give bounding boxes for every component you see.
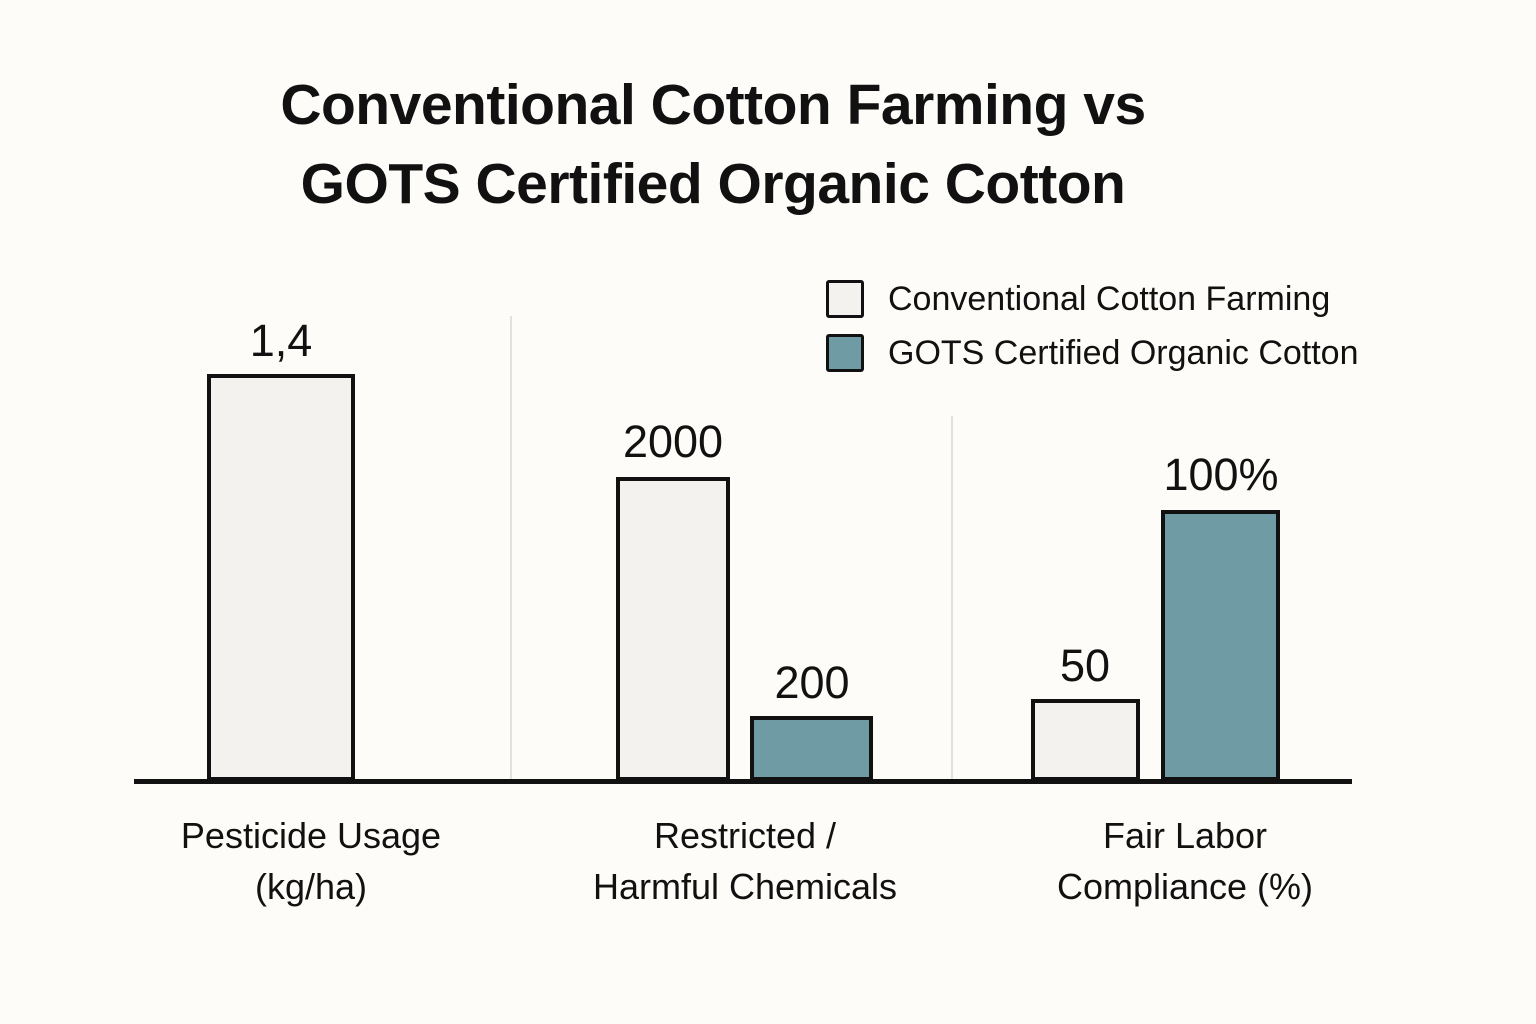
x-axis-baseline bbox=[134, 779, 1352, 784]
chart-container: Conventional Cotton Farming vs GOTS Cert… bbox=[0, 0, 1536, 1024]
bar-pesticide-conventional[interactable] bbox=[207, 374, 355, 781]
bar-value-labor-conventional: 50 bbox=[985, 643, 1185, 688]
category-label-labor: Fair Labor Compliance (%) bbox=[1015, 810, 1355, 912]
group-separator-1 bbox=[510, 316, 512, 780]
bar-labor-conventional[interactable] bbox=[1031, 699, 1140, 781]
group-separator-2 bbox=[951, 416, 953, 780]
category-label-chemicals: Restricted / Harmful Chemicals bbox=[575, 810, 915, 912]
category-label-pesticide: Pesticide Usage (kg/ha) bbox=[141, 810, 481, 912]
bar-labor-organic[interactable] bbox=[1161, 510, 1280, 781]
bar-chemicals-conventional[interactable] bbox=[616, 477, 730, 781]
bar-value-pesticide-conventional: 1,4 bbox=[181, 318, 381, 363]
bar-value-labor-organic: 100% bbox=[1121, 452, 1321, 497]
bar-value-chemicals-conventional: 2000 bbox=[573, 419, 773, 464]
bar-value-chemicals-organic: 200 bbox=[712, 660, 912, 705]
bar-chemicals-organic[interactable] bbox=[750, 716, 873, 781]
plot-area: 1,4 2000 200 50 100% Pesticide Usage (kg… bbox=[0, 0, 1536, 1024]
